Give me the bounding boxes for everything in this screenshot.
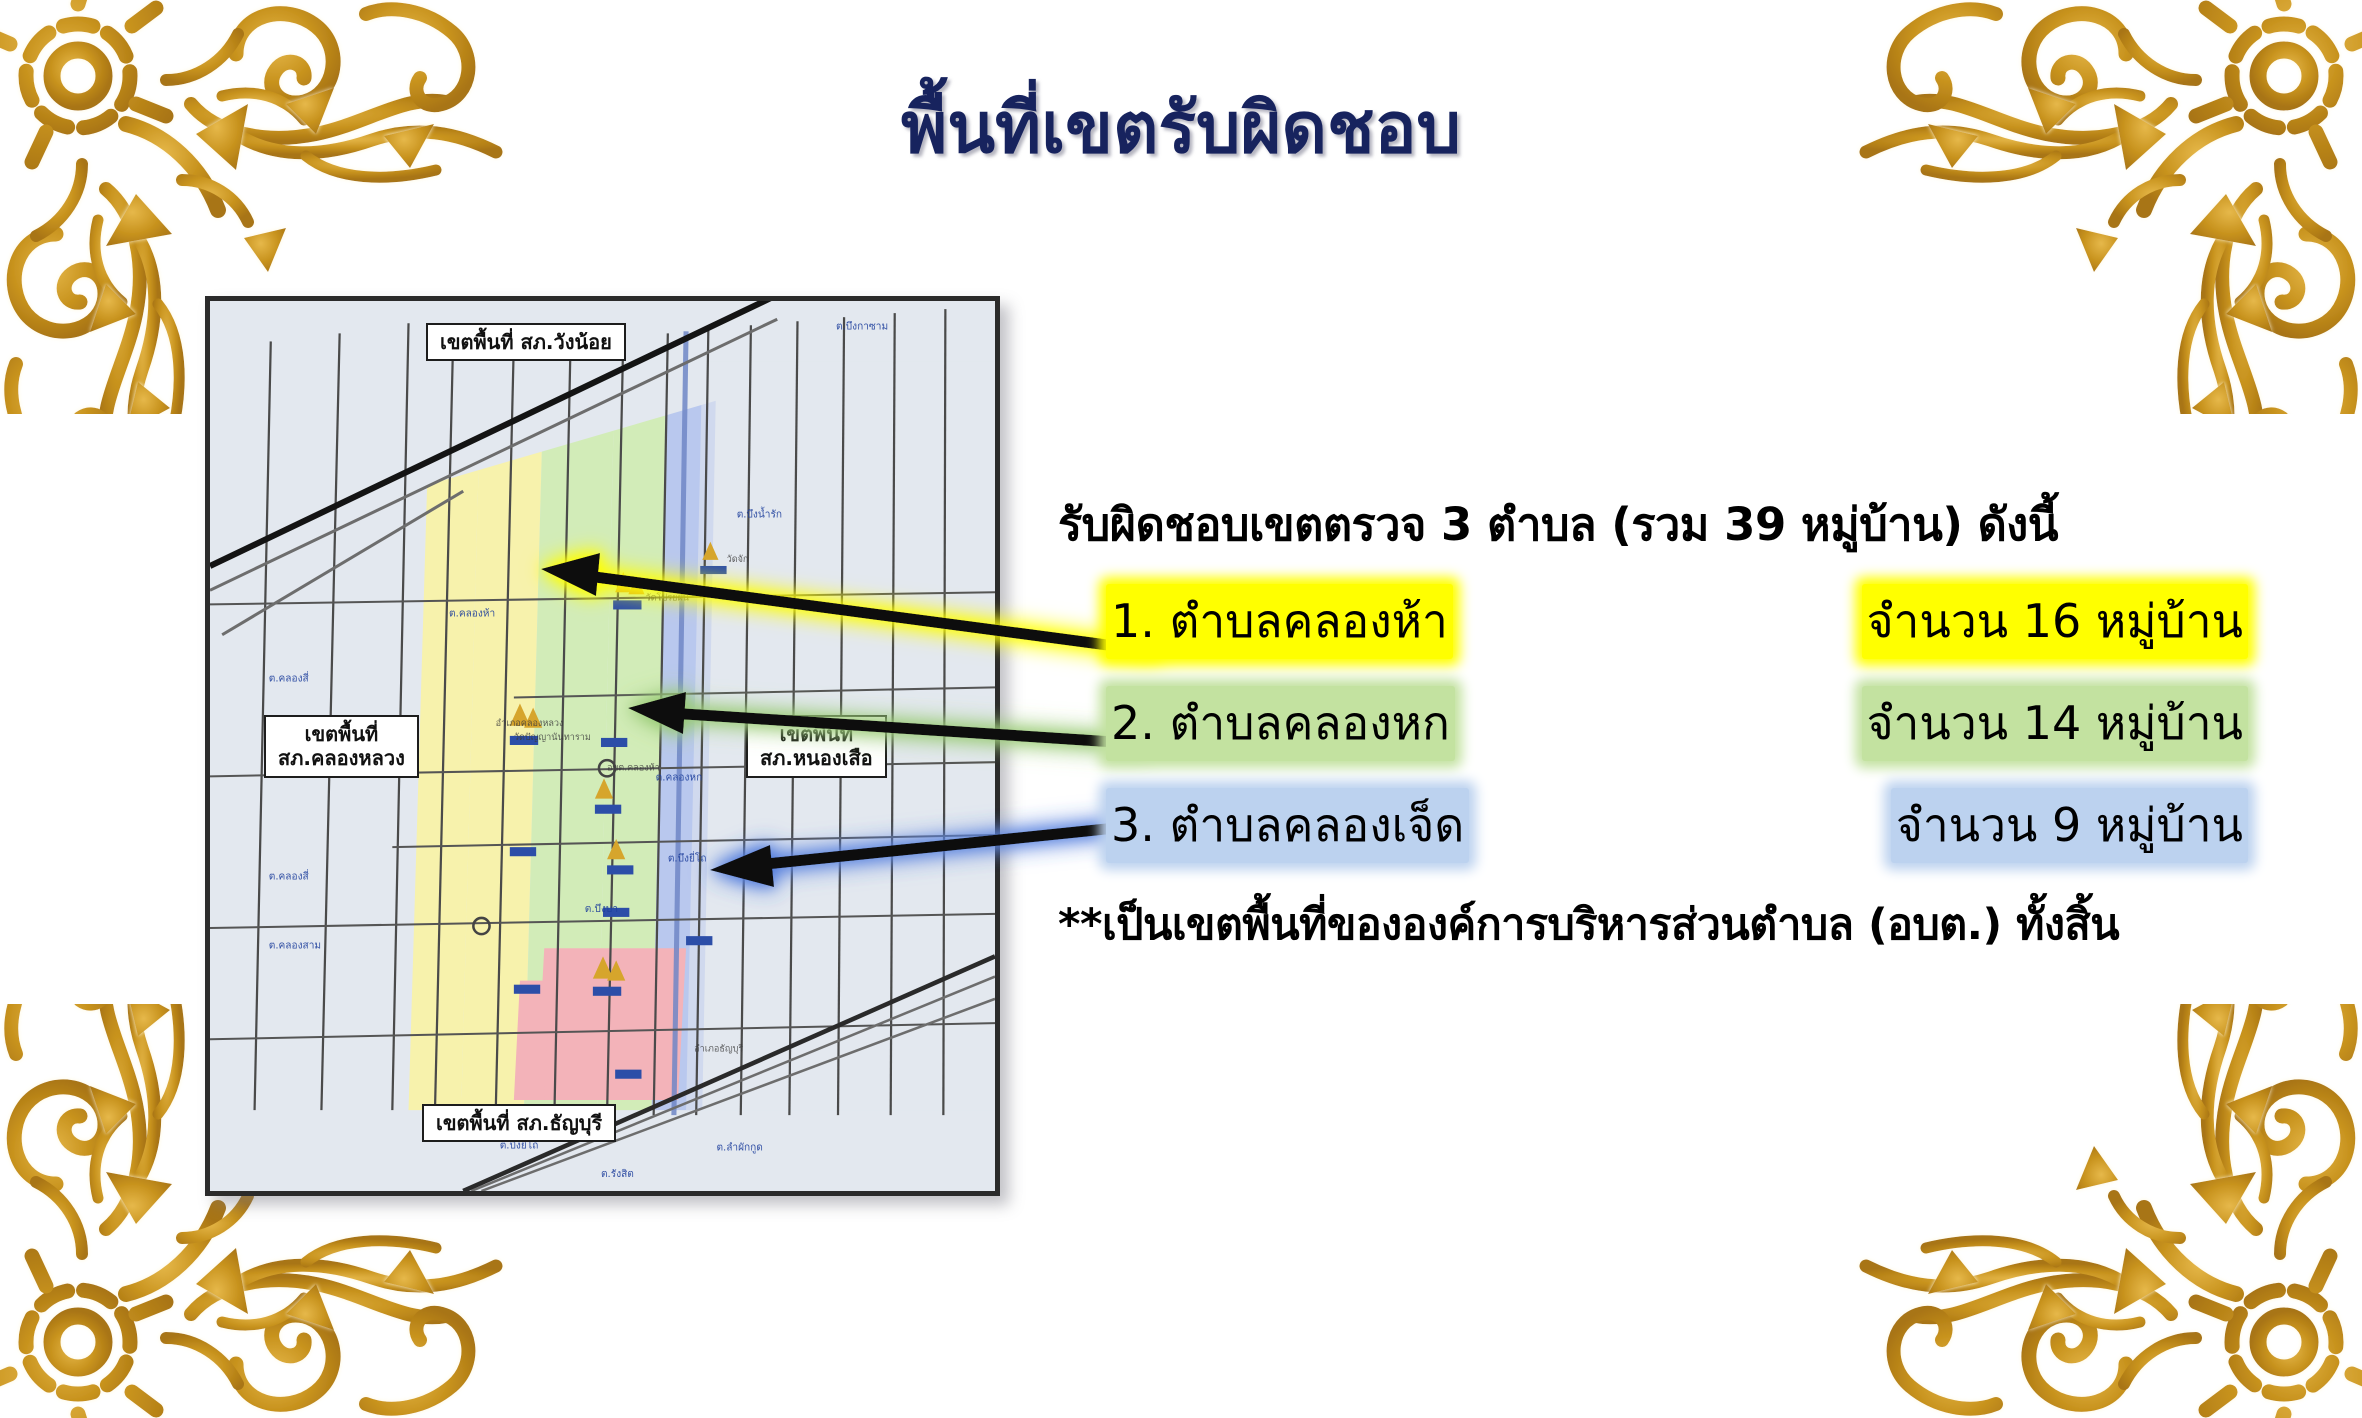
svg-text:ต.บึงน้ำรัก: ต.บึงน้ำรัก [737,506,782,520]
map-label-thanyaburi: เขตพื้นที่ สภ.ธัญบุรี [422,1104,616,1142]
tambon-name-2: 2. ตำบลคลองหก [1106,686,1455,761]
svg-text:ต.คลองห้า: ต.คลองห้า [449,608,495,620]
map-label-khlongluang-line2: สภ.คลองหลวง [278,746,405,770]
tambon-count-2: จำนวน 14 หมู่บ้าน [1862,686,2248,761]
svg-text:ต.รังสิต: ต.รังสิต [601,1168,634,1180]
map-label-khlongluang-line1: เขตพื้นที่ [278,722,405,746]
responsibility-area-map[interactable]: ต.บึงกาซาม ต.บึงน้ำรัก ต.คลองหก ต.คลองห้… [205,296,1000,1196]
svg-text:วัดปัญญานันทาราม: วัดปัญญานันทาราม [514,732,591,743]
svg-text:ต.บึงยี่โถ: ต.บึงยี่โถ [668,850,707,864]
svg-text:ต.คลองสาม: ต.คลองสาม [269,940,321,951]
svg-text:ต.บึงกาซาม: ต.บึงกาซาม [836,320,888,332]
svg-text:ต.ลำผักกูด: ต.ลำผักกูด [716,1143,762,1154]
map-label-nongsuea-line1: เขตพื้นที่ [760,722,873,746]
slide-canvas: พื้นที่เขตรับผิดชอบ [0,0,2362,1418]
thai-kranok-ornament-top-right [1856,0,2362,414]
svg-text:อบต.คลองห้า: อบต.คลองห้า [607,762,660,773]
tambon-name-3: 3. ตำบลคลองเจ็ด [1106,788,1469,863]
svg-text:อำเภอธัญบุรี: อำเภอธัญบุรี [694,1043,743,1054]
map-label-khlongluang: เขตพื้นที่ สภ.คลองหลวง [264,715,419,778]
tambon-name-1: 1. ตำบลคลองห้า [1106,584,1453,659]
list-item: 1. ตำบลคลองห้า จำนวน 16 หมู่บ้าน [1058,584,2248,659]
content-text-block: รับผิดชอบเขตตรวจ 3 ตำบล (รวม 39 หมู่บ้าน… [1058,488,2248,958]
map-label-nongsuea-line2: สภ.หนองเสือ [760,746,873,770]
tambon-count-3: จำนวน 9 หมู่บ้าน [1891,788,2248,863]
svg-text:ต.บึงบา: ต.บึงบา [585,903,618,915]
map-label-wangnoi: เขตพื้นที่ สภ.วังน้อย [426,323,626,361]
svg-text:ต.คลองสี่: ต.คลองสี่ [269,670,309,684]
map-label-nongsuea: เขตพื้นที่ สภ.หนองเสือ [746,715,887,778]
tambon-count-1: จำนวน 16 หมู่บ้าน [1862,584,2248,659]
page-title: พื้นที่เขตรับผิดชอบ [0,92,2362,166]
svg-text:ต.คลองหก: ต.คลองหก [656,772,703,783]
svg-text:วัดโปรยฝน: วัดโปรยฝน [646,592,689,603]
list-item: 3. ตำบลคลองเจ็ด จำนวน 9 หมู่บ้าน [1058,788,2248,863]
thai-kranok-ornament-bottom-right [1856,1004,2362,1418]
list-item: 2. ตำบลคลองหก จำนวน 14 หมู่บ้าน [1058,686,2248,761]
intro-line: รับผิดชอบเขตตรวจ 3 ตำบล (รวม 39 หมู่บ้าน… [1058,488,2248,560]
svg-text:วัดจัก: วัดจัก [727,554,749,565]
svg-text:ต.คลองสี่: ต.คลองสี่ [269,869,309,883]
footnote-line: **เป็นเขตพื้นที่ขององค์การบริหารส่วนตำบล… [1058,890,2248,958]
svg-text:อำเภอคลองหลวง: อำเภอคลองหลวง [496,718,564,729]
